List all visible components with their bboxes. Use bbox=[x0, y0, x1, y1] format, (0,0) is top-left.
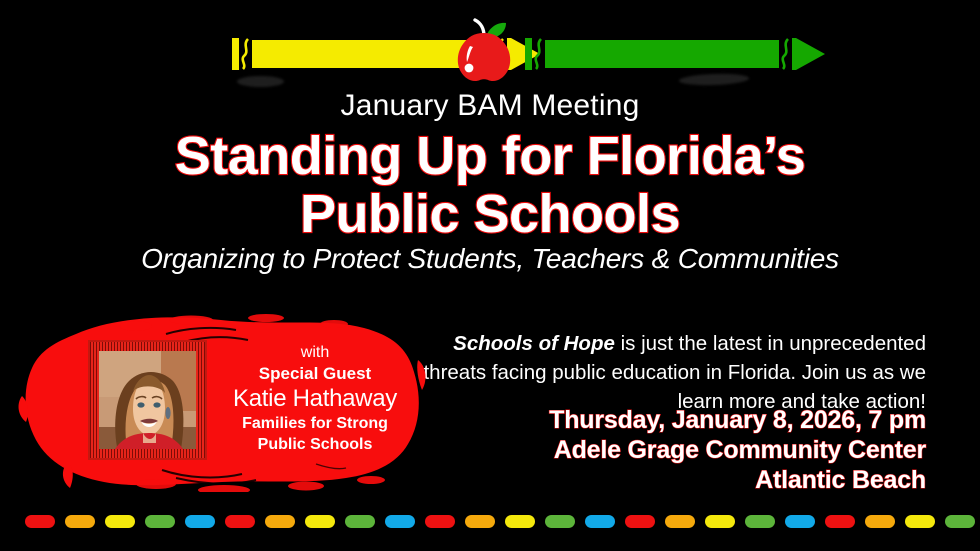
body-lead-emphasis: Schools of Hope bbox=[453, 332, 615, 355]
event-venue: Adele Grage Community Center bbox=[410, 435, 926, 465]
dash-segment bbox=[385, 515, 415, 528]
dash-segment bbox=[265, 515, 295, 528]
guest-with-label: with bbox=[212, 342, 418, 363]
crayon-header-decoration bbox=[0, 0, 980, 92]
dash-segment bbox=[65, 515, 95, 528]
dash-segment bbox=[25, 515, 55, 528]
dash-segment bbox=[745, 515, 775, 528]
dash-segment bbox=[345, 515, 375, 528]
crayon-squiggle bbox=[239, 38, 252, 70]
dash-segment bbox=[185, 515, 215, 528]
pencil-smudge-right bbox=[679, 73, 749, 86]
page-title: Standing Up for Florida’s Public Schools bbox=[0, 127, 980, 243]
speaker-portrait-frame bbox=[88, 340, 207, 460]
flyer-canvas: January BAM Meeting Standing Up for Flor… bbox=[0, 0, 980, 551]
crayon-cap-bar bbox=[525, 38, 532, 70]
event-date: Thursday, January 8, 2026, 7 pm bbox=[410, 405, 926, 435]
dash-segment bbox=[625, 515, 655, 528]
dash-segment bbox=[105, 515, 135, 528]
subtitle-text: Organizing to Protect Students, Teachers… bbox=[0, 242, 980, 276]
dash-segment bbox=[665, 515, 695, 528]
dash-segment bbox=[145, 515, 175, 528]
crayon-cap-bar bbox=[232, 38, 239, 70]
crayon-tip bbox=[796, 38, 825, 70]
dash-segment bbox=[465, 515, 495, 528]
crayon-body bbox=[545, 40, 779, 68]
dash-segment bbox=[585, 515, 615, 528]
dash-segment bbox=[905, 515, 935, 528]
guest-name: Katie Hathaway bbox=[212, 385, 418, 413]
guest-org-line-1: Families for Strong bbox=[212, 413, 418, 434]
event-city: Atlantic Beach bbox=[410, 465, 926, 495]
speaker-portrait-photo bbox=[99, 351, 196, 449]
dash-segment bbox=[865, 515, 895, 528]
crayon-squiggle bbox=[779, 38, 792, 70]
guest-special-label: Special Guest bbox=[212, 363, 418, 385]
crayon-squiggle bbox=[532, 38, 545, 70]
dash-segment bbox=[425, 515, 455, 528]
special-guest-text: with Special Guest Katie Hathaway Famili… bbox=[212, 342, 418, 455]
dash-segment bbox=[785, 515, 815, 528]
dash-segment bbox=[825, 515, 855, 528]
page-title-line-1: Standing Up for Florida’s bbox=[175, 126, 806, 186]
page-title-line-2: Public Schools bbox=[0, 185, 980, 243]
dash-segment bbox=[505, 515, 535, 528]
dash-segment bbox=[945, 515, 975, 528]
apple-icon bbox=[448, 18, 520, 84]
kicker-text: January BAM Meeting bbox=[0, 86, 980, 126]
special-guest-block: with Special Guest Katie Hathaway Famili… bbox=[16, 312, 428, 492]
bottom-dash-border bbox=[0, 515, 980, 528]
guest-org-line-2: Public Schools bbox=[212, 434, 418, 455]
dash-segment bbox=[225, 515, 255, 528]
dash-segment bbox=[705, 515, 735, 528]
event-details: Thursday, January 8, 2026, 7 pm Adele Gr… bbox=[410, 405, 926, 495]
dash-segment bbox=[545, 515, 575, 528]
dash-segment bbox=[305, 515, 335, 528]
body-paragraph: Schools of Hope is just the latest in un… bbox=[410, 329, 926, 416]
crayon-green-icon bbox=[525, 38, 825, 70]
